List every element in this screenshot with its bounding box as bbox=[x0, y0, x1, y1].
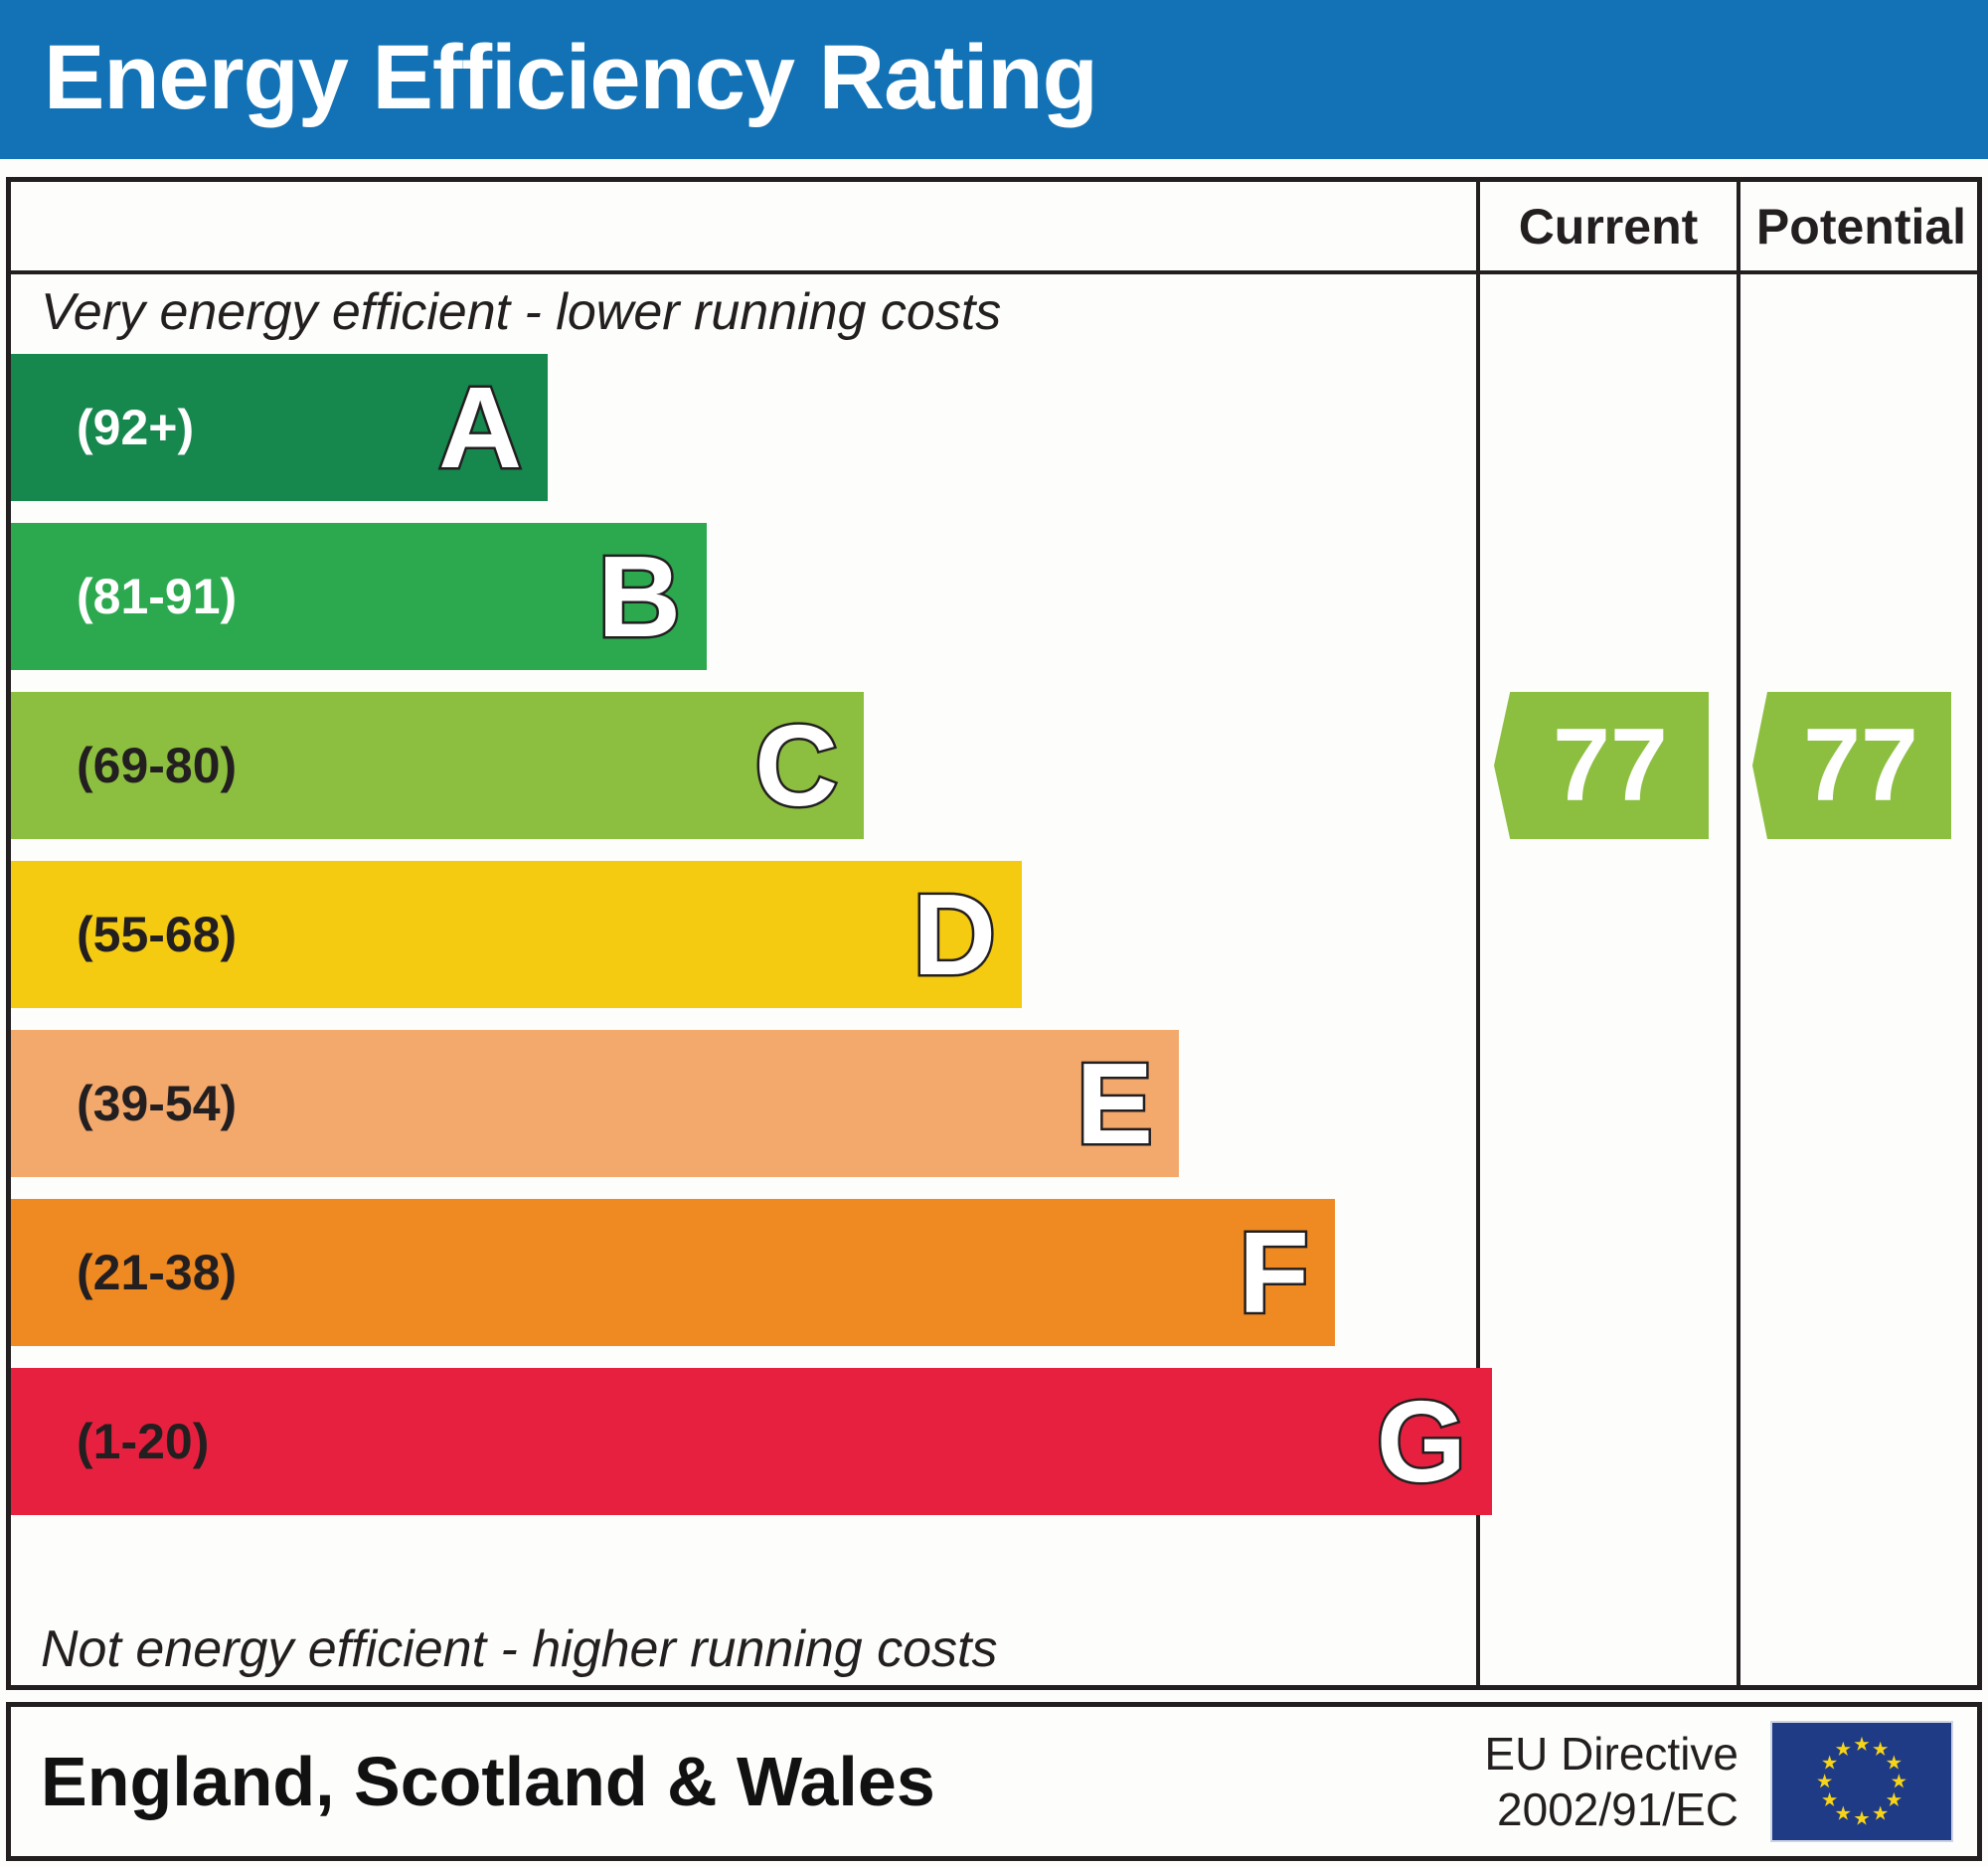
band-e: (39-54)E bbox=[11, 1030, 1179, 1177]
band-c: (69-80)C bbox=[11, 692, 864, 839]
eu-flag-icon bbox=[1770, 1721, 1953, 1842]
bands-chart-area: Very energy efficient - lower running co… bbox=[11, 274, 1476, 1685]
potential-rating-value: 77 bbox=[1785, 714, 1918, 817]
band-b: (81-91)B bbox=[11, 523, 707, 670]
footer-region-label: England, Scotland & Wales bbox=[41, 1742, 935, 1821]
band-letter-g: G bbox=[1377, 1384, 1466, 1499]
band-letter-d: D bbox=[912, 877, 996, 992]
band-letter-c: C bbox=[754, 708, 838, 823]
page-title: Energy Efficiency Rating bbox=[44, 22, 1097, 133]
band-range-f: (21-38) bbox=[77, 1244, 237, 1301]
band-a: (92+)A bbox=[11, 354, 548, 501]
header-banner: Energy Efficiency Rating bbox=[0, 0, 1988, 159]
column-header-potential: Potential bbox=[1740, 182, 1982, 270]
directive-line-2: 2002/91/EC bbox=[1484, 1782, 1739, 1837]
caption-inefficient: Not energy efficient - higher running co… bbox=[41, 1619, 998, 1679]
band-list: (92+)A(81-91)B(69-80)C(55-68)D(39-54)E(2… bbox=[11, 354, 1476, 1532]
rating-table-frame: Current Potential Very energy efficient … bbox=[6, 177, 1982, 1690]
band-letter-a: A bbox=[438, 370, 522, 485]
column-header-current: Current bbox=[1480, 182, 1737, 270]
band-range-a: (92+) bbox=[77, 399, 194, 456]
potential-rating-arrow: 77 bbox=[1752, 692, 1951, 839]
current-rating-arrow: 77 bbox=[1494, 692, 1709, 839]
band-letter-e: E bbox=[1077, 1046, 1153, 1161]
band-f: (21-38)F bbox=[11, 1199, 1335, 1346]
band-range-d: (55-68) bbox=[77, 906, 237, 963]
footer-bar: England, Scotland & Wales EU Directive 2… bbox=[6, 1702, 1982, 1861]
band-range-b: (81-91) bbox=[77, 568, 237, 625]
column-header-row: Current Potential bbox=[11, 182, 1977, 274]
caption-efficient: Very energy efficient - lower running co… bbox=[41, 282, 1001, 342]
current-rating-column: 77 bbox=[1480, 274, 1737, 1685]
band-letter-f: F bbox=[1239, 1215, 1309, 1330]
band-range-c: (69-80) bbox=[77, 737, 237, 794]
energy-efficiency-rating-chart: Energy Efficiency Rating Current Potenti… bbox=[0, 0, 1988, 1867]
band-d: (55-68)D bbox=[11, 861, 1022, 1008]
band-range-e: (39-54) bbox=[77, 1075, 237, 1132]
band-letter-b: B bbox=[597, 539, 681, 654]
directive-line-1: EU Directive bbox=[1484, 1726, 1739, 1782]
footer-directive-label: EU Directive 2002/91/EC bbox=[1484, 1726, 1739, 1837]
current-rating-value: 77 bbox=[1535, 714, 1668, 817]
potential-rating-column: 77 bbox=[1740, 274, 1982, 1685]
band-range-g: (1-20) bbox=[77, 1413, 209, 1470]
band-g: (1-20)G bbox=[11, 1368, 1492, 1515]
